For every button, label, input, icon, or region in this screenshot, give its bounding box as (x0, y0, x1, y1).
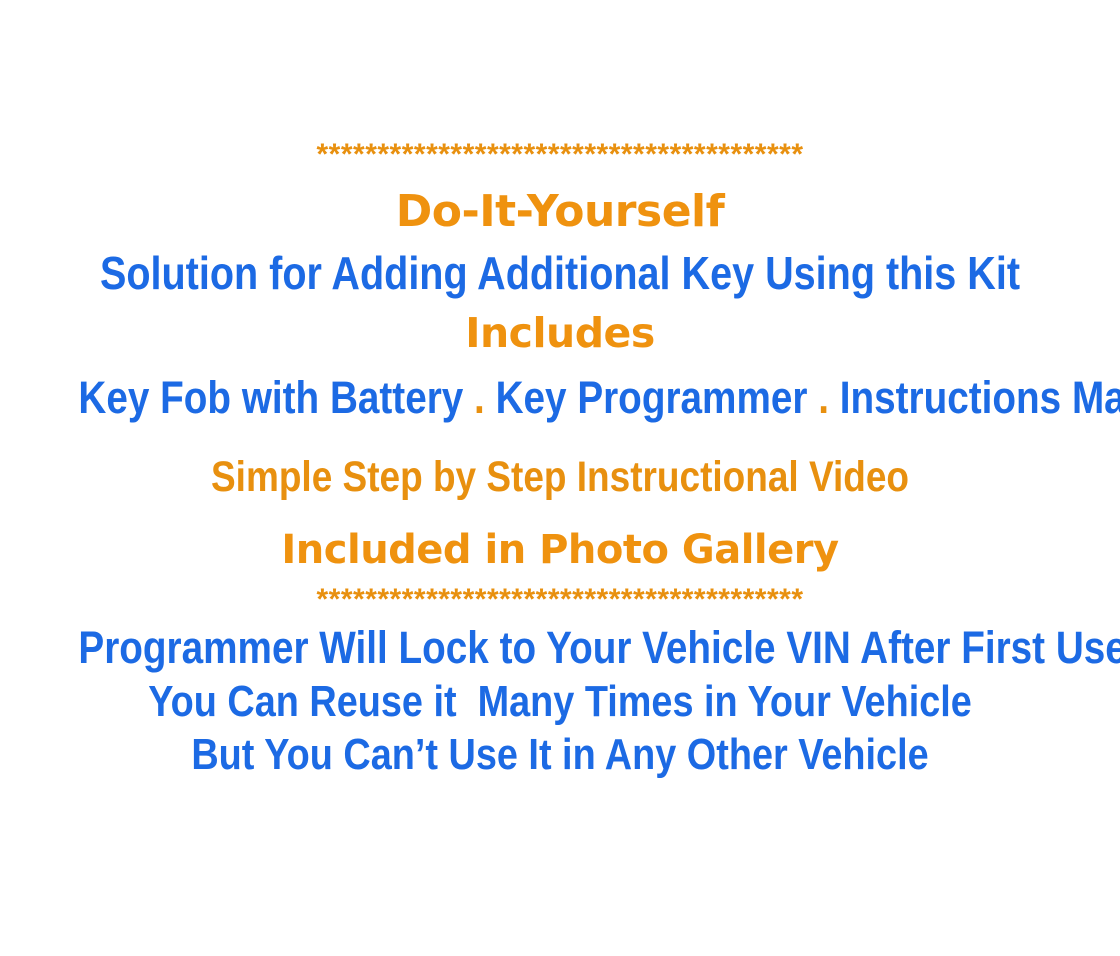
divider-asterisks-top: **************************************** (0, 140, 1120, 170)
notice-line-vin-lock: Programmer Will Lock to Your Vehicle VIN… (78, 625, 1041, 670)
content-separator-dot-2: . (807, 372, 839, 423)
kit-content-item-3: Instructions Manual (840, 372, 1120, 423)
promo-graphic: ****************************************… (0, 0, 1120, 956)
page-title: Do-It-Yourself (0, 190, 1120, 234)
subtitle-text: Solution for Adding Additional Key Using… (78, 250, 1041, 296)
notice-line-other-vehicle: But You Can’t Use It in Any Other Vehicl… (78, 733, 1041, 777)
includes-label: Includes (0, 313, 1120, 354)
kit-content-item-1: Key Fob with Battery (78, 372, 463, 423)
content-separator-dot-1: . (463, 372, 495, 423)
notice-line-reuse: You Can Reuse it Many Times in Your Vehi… (78, 680, 1041, 724)
photo-gallery-line: Included in Photo Gallery (0, 530, 1120, 570)
kit-contents-line: Key Fob with Battery . Key Programmer . … (78, 375, 1041, 420)
instructional-video-line: Simple Step by Step Instructional Video (78, 456, 1041, 499)
kit-content-item-2: Key Programmer (496, 372, 808, 423)
divider-asterisks-bottom: **************************************** (0, 585, 1120, 615)
